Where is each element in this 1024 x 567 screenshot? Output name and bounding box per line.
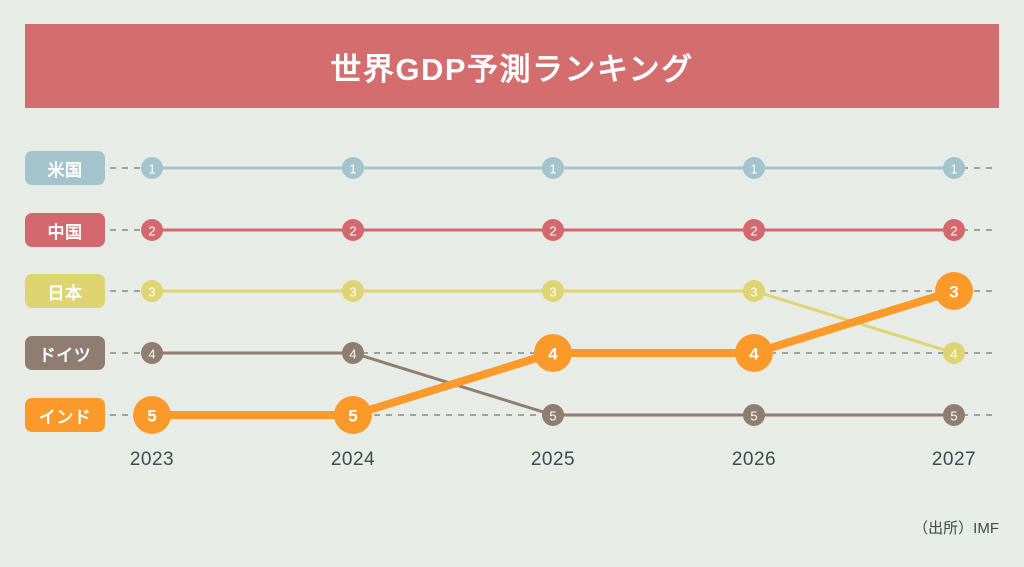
node-rank-label: 3 [549,285,556,300]
node-japan-2025[interactable]: 3 [542,280,564,302]
node-china-2027[interactable]: 2 [943,219,965,241]
row-label-text: 中国 [48,218,83,243]
node-us-2023[interactable]: 1 [141,157,163,179]
node-rank-label: 5 [549,409,556,424]
node-china-2024[interactable]: 2 [342,219,364,241]
node-rank-label: 2 [950,224,957,239]
node-india-2026[interactable]: 4 [735,334,773,372]
node-rank-label: 1 [950,162,957,177]
node-india-2024[interactable]: 5 [334,396,372,434]
node-india-2027[interactable]: 3 [935,272,973,310]
node-japan-2024[interactable]: 3 [342,280,364,302]
row-label-text: ドイツ [39,341,92,366]
node-china-2023[interactable]: 2 [141,219,163,241]
node-us-2026[interactable]: 1 [743,157,765,179]
label-india[interactable]: インド [25,398,105,432]
year-label-2026: 2026 [694,449,814,471]
node-rank-label: 1 [549,162,556,177]
row-label-text: 日本 [48,279,83,304]
node-japan-2027[interactable]: 4 [943,342,965,364]
node-rank-label: 3 [750,285,757,300]
node-us-2027[interactable]: 1 [943,157,965,179]
node-us-2024[interactable]: 1 [342,157,364,179]
node-rank-label: 2 [148,224,155,239]
node-rank-label: 2 [549,224,556,239]
node-rank-label: 4 [349,347,356,362]
year-label-2027: 2027 [894,449,1014,471]
node-rank-label: 4 [148,347,155,362]
rank-chart-svg: 1111122222333344455555443 [0,0,1024,567]
node-rank-label: 1 [349,162,356,177]
node-germany-2026[interactable]: 5 [743,404,765,426]
source-note: （出所）IMF [913,517,999,538]
node-rank-label: 5 [750,409,757,424]
node-china-2026[interactable]: 2 [743,219,765,241]
node-germany-2024[interactable]: 4 [342,342,364,364]
node-china-2025[interactable]: 2 [542,219,564,241]
node-rank-label: 1 [148,162,155,177]
year-label-2024: 2024 [293,449,413,471]
node-rank-label: 5 [147,407,156,426]
node-germany-2023[interactable]: 4 [141,342,163,364]
node-india-2025[interactable]: 4 [534,334,572,372]
node-india-2023[interactable]: 5 [133,396,171,434]
node-rank-label: 4 [950,347,957,362]
node-japan-2026[interactable]: 3 [743,280,765,302]
node-rank-label: 2 [750,224,757,239]
node-rank-label: 4 [548,345,558,364]
label-germany[interactable]: ドイツ [25,336,105,370]
label-us[interactable]: 米国 [25,151,105,185]
series-nodes: 1111122222333344455555443 [133,157,973,434]
node-germany-2027[interactable]: 5 [943,404,965,426]
label-china[interactable]: 中国 [25,213,105,247]
year-label-2025: 2025 [493,449,613,471]
node-us-2025[interactable]: 1 [542,157,564,179]
row-label-text: インド [39,403,92,428]
row-label-text: 米国 [48,156,83,181]
node-rank-label: 3 [148,285,155,300]
node-rank-label: 2 [349,224,356,239]
node-rank-label: 4 [749,345,759,364]
node-rank-label: 3 [949,283,958,302]
node-germany-2025[interactable]: 5 [542,404,564,426]
rank-chart: 1111122222333344455555443 [0,0,1024,567]
label-japan[interactable]: 日本 [25,274,105,308]
node-rank-label: 5 [348,407,357,426]
node-japan-2023[interactable]: 3 [141,280,163,302]
node-rank-label: 5 [950,409,957,424]
node-rank-label: 3 [349,285,356,300]
node-rank-label: 1 [750,162,757,177]
year-label-2023: 2023 [92,449,212,471]
